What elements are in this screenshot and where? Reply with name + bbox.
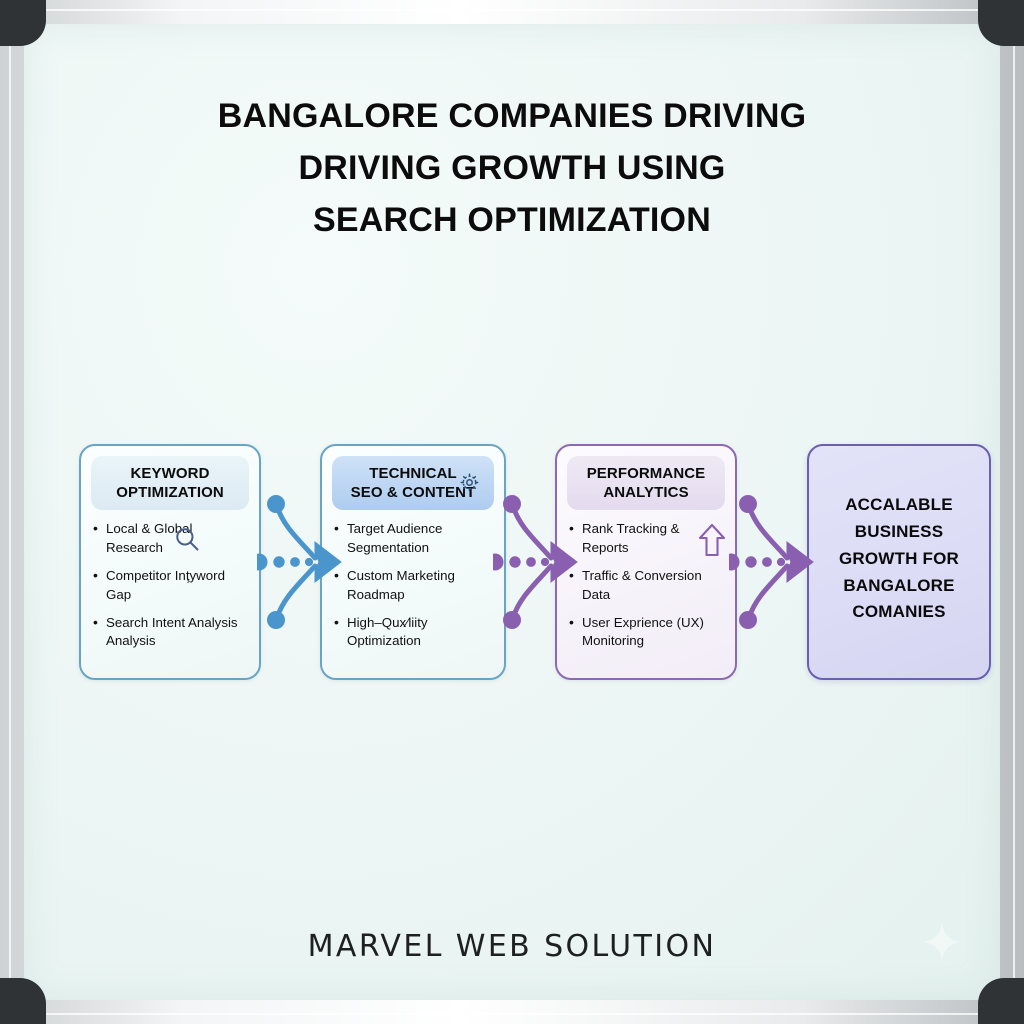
list-item: Custom Marketing Roadmap [334,567,498,605]
card-scalable-business-growth[interactable]: ACCALABLE BUSINESS GROWTH FOR BANGALORE … [807,444,991,680]
heading-line-1: PERFORMANCE [587,465,706,482]
process-flow-diagram: KEYWORD OPTIMIZATION Local & Global Rese… [79,444,991,684]
card-keyword-optimization[interactable]: KEYWORD OPTIMIZATION Local & Global Rese… [79,444,261,680]
whiteboard-surface: BANGALORE COMPANIES DRIVING DRIVING GROW… [24,24,1000,1000]
card-bullets-technical-seo-content: Target Audience Segmentation Custom Mark… [334,520,498,660]
heading-line-2: SEO & CONTENT [351,484,476,501]
list-item: High–Qux⁄liity Optimization [334,614,498,652]
card-heading-technical-seo-content: TECHNICAL SEO & CONTENT [332,456,494,510]
whiteboard-frame: BANGALORE COMPANIES DRIVING DRIVING GROW… [0,0,1024,1024]
title-line-2: DRIVING GROWTH USING [24,142,1000,194]
outcome-line-5: COMANIES [852,602,945,621]
list-item: Search Intent Analysis Analysis [93,614,253,652]
footer-brand: MARVEL WEB SOLUTION [24,929,1000,964]
gear-icon [459,472,480,498]
title-line-1: BANGALORE COMPANIES DRIVING [24,90,1000,142]
title-line-3: SEARCH OPTIMIZATION [24,194,1000,246]
outcome-line-1: ACCALABLE [845,495,953,514]
list-item: User Exprience (UX) Monitoring [569,614,729,652]
list-item: Traffic & Conversion Data [569,567,729,605]
outcome-line-3: GROWTH FOR [839,549,959,568]
card-heading-performance-analytics: PERFORMANCE ANALYTICS [567,456,725,510]
frame-rail-bottom [10,1013,1014,1015]
card-heading-keyword-optimization: KEYWORD OPTIMIZATION [91,456,249,510]
connector-3 [729,444,815,680]
frame-rail-right [1013,10,1015,1014]
outcome-text: ACCALABLE BUSINESS GROWTH FOR BANGALORE … [817,492,981,626]
heading-line-2: OPTIMIZATION [116,484,224,501]
corner-bracket-bottom-right [978,978,1024,1024]
connector-2 [493,444,579,680]
frame-rail-left [9,10,11,1014]
card-technical-seo-content[interactable]: TECHNICAL SEO & CONTENT Target Audience … [320,444,506,680]
magnifier-icon [172,524,202,559]
up-arrow-icon [696,522,728,565]
heading-line-1: KEYWORD [130,465,209,482]
sparkle-watermark-icon [920,920,964,964]
heading-line-2: ANALYTICS [603,484,688,501]
connector-1 [257,444,343,680]
outcome-line-2: BUSINESS [855,522,944,541]
frame-rail-top [10,9,1014,11]
list-item: Competitor Inţyword Gap [93,567,253,605]
outcome-line-4: BANGALORE [843,576,954,595]
heading-line-1: TECHNICAL [369,465,457,482]
page-title: BANGALORE COMPANIES DRIVING DRIVING GROW… [24,90,1000,246]
list-item: Target Audience Segmentation [334,520,498,558]
